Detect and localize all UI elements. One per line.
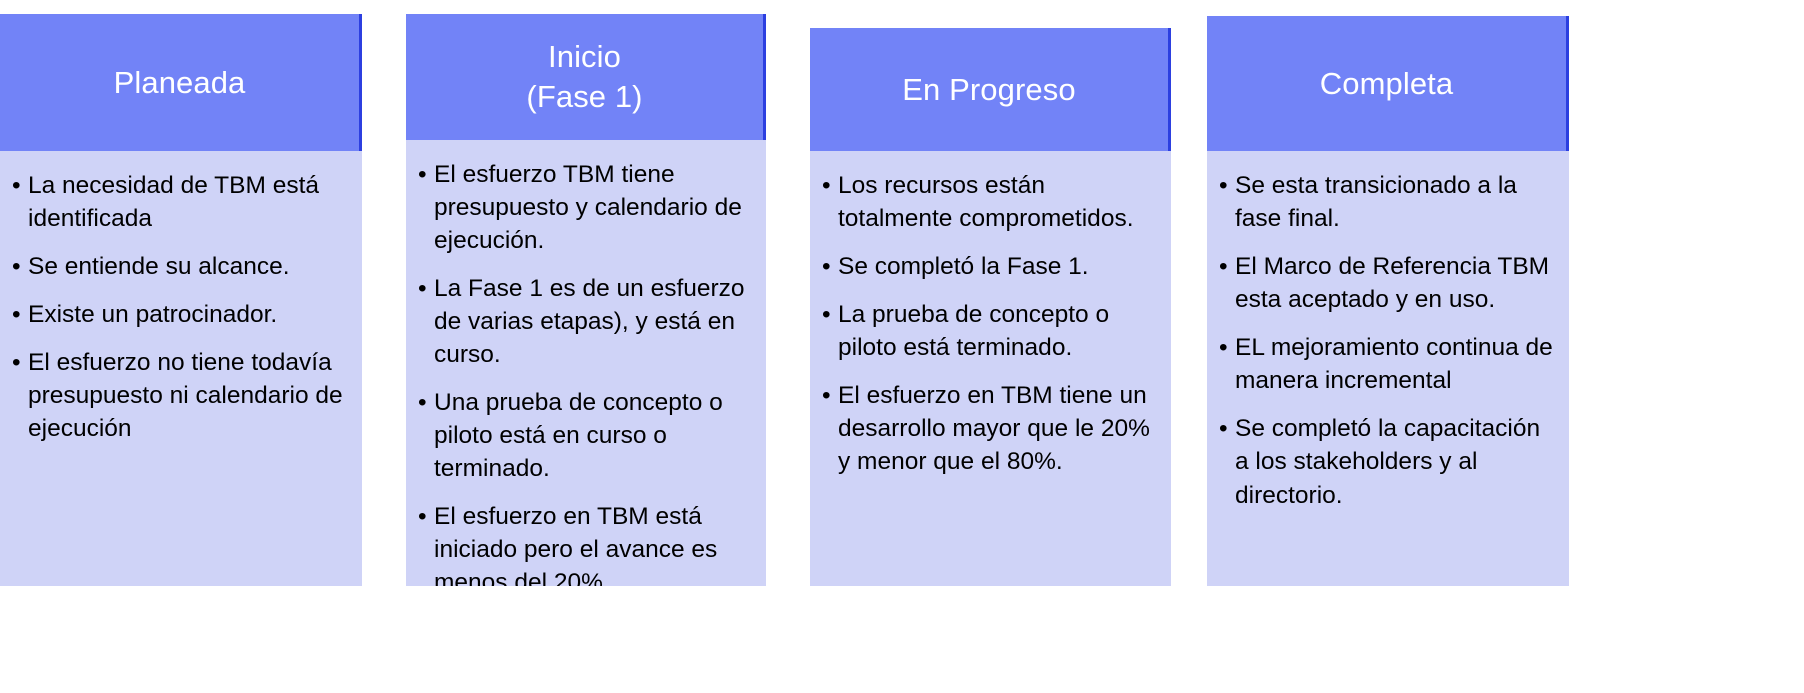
list-item-text: Se entiende su alcance. (28, 250, 346, 283)
bullet-dot-icon: • (822, 169, 838, 202)
list-item: • Existe un patrocinador. (12, 298, 346, 331)
list-item: • La Fase 1 es de un esfuerzo de varias … (418, 272, 750, 371)
bullet-list: • El esfuerzo TBM tiene presupuesto y ca… (418, 158, 750, 586)
bullet-dot-icon: • (12, 250, 28, 283)
list-item: • El esfuerzo en TBM tiene un desarrollo… (822, 379, 1155, 478)
bullet-list: • Los recursos están totalmente comprome… (822, 169, 1155, 479)
stage-header-inicio: Inicio (Fase 1) (406, 14, 766, 140)
list-item: • La necesidad de TBM está identificada (12, 169, 346, 235)
stage-body-planeada: • La necesidad de TBM está identificada … (0, 151, 362, 586)
list-item-text: La necesidad de TBM está identificada (28, 169, 346, 235)
list-item-text: La prueba de concepto o piloto está term… (838, 298, 1155, 364)
bullet-dot-icon: • (1219, 331, 1235, 364)
stage-title-line: Completa (1320, 64, 1453, 104)
list-item: • El esfuerzo no tiene todavía presupues… (12, 346, 346, 445)
stage-body-completa: • Se esta transicionado a la fase final.… (1207, 151, 1569, 586)
stage-column-planeada: Planeada • La necesidad de TBM está iden… (0, 14, 362, 586)
stage-body-inicio: • El esfuerzo TBM tiene presupuesto y ca… (406, 140, 766, 586)
stage-column-completa: Completa • Se esta transicionado a la fa… (1207, 16, 1569, 586)
list-item: • El Marco de Referencia TBM esta acepta… (1219, 250, 1553, 316)
stage-title-line: Planeada (114, 63, 246, 103)
list-item: • El esfuerzo en TBM está iniciado pero … (418, 500, 750, 586)
stage-title-line: Inicio (548, 37, 621, 77)
bullet-dot-icon: • (418, 158, 434, 191)
maturity-stages-diagram: Planeada • La necesidad de TBM está iden… (0, 0, 1804, 693)
stage-column-en-progreso: En Progreso • Los recursos están totalme… (810, 28, 1171, 586)
stage-subtitle-line: (Fase 1) (526, 77, 642, 117)
list-item-text: La Fase 1 es de un esfuerzo de varias et… (434, 272, 750, 371)
list-item: • Se completó la capacitación a los stak… (1219, 412, 1553, 511)
bullet-list: • La necesidad de TBM está identificada … (12, 169, 346, 445)
list-item: • La prueba de concepto o piloto está te… (822, 298, 1155, 364)
stage-title-line: En Progreso (902, 70, 1075, 110)
stage-header-planeada: Planeada (0, 14, 362, 151)
bullet-dot-icon: • (1219, 412, 1235, 445)
list-item-text: EL mejoramiento continua de manera incre… (1235, 331, 1553, 397)
list-item: • Se completó la Fase 1. (822, 250, 1155, 283)
list-item-text: Se esta transicionado a la fase final. (1235, 169, 1553, 235)
bullet-dot-icon: • (822, 379, 838, 412)
bullet-dot-icon: • (1219, 250, 1235, 283)
list-item-text: El esfuerzo en TBM está iniciado pero el… (434, 500, 750, 586)
list-item-text: Se completó la capacitación a los stakeh… (1235, 412, 1553, 511)
list-item: • Los recursos están totalmente comprome… (822, 169, 1155, 235)
list-item-text: El esfuerzo TBM tiene presupuesto y cale… (434, 158, 750, 257)
bullet-dot-icon: • (418, 500, 434, 533)
list-item: • Se esta transicionado a la fase final. (1219, 169, 1553, 235)
bullet-dot-icon: • (822, 250, 838, 283)
list-item: • EL mejoramiento continua de manera inc… (1219, 331, 1553, 397)
stage-header-completa: Completa (1207, 16, 1569, 151)
list-item-text: Se completó la Fase 1. (838, 250, 1155, 283)
bullet-dot-icon: • (1219, 169, 1235, 202)
bullet-dot-icon: • (418, 272, 434, 305)
list-item: • Se entiende su alcance. (12, 250, 346, 283)
stage-body-en-progreso: • Los recursos están totalmente comprome… (810, 151, 1171, 586)
list-item-text: Existe un patrocinador. (28, 298, 346, 331)
list-item: • Una prueba de concepto o piloto está e… (418, 386, 750, 485)
list-item-text: El esfuerzo en TBM tiene un desarrollo m… (838, 379, 1155, 478)
bullet-list: • Se esta transicionado a la fase final.… (1219, 169, 1553, 512)
list-item-text: Los recursos están totalmente comprometi… (838, 169, 1155, 235)
bullet-dot-icon: • (418, 386, 434, 419)
bullet-dot-icon: • (12, 169, 28, 202)
bullet-dot-icon: • (12, 298, 28, 331)
list-item: • El esfuerzo TBM tiene presupuesto y ca… (418, 158, 750, 257)
stage-column-inicio: Inicio (Fase 1) • El esfuerzo TBM tiene … (406, 14, 766, 586)
list-item-text: El esfuerzo no tiene todavía presupuesto… (28, 346, 346, 445)
stage-header-en-progreso: En Progreso (810, 28, 1171, 151)
bullet-dot-icon: • (822, 298, 838, 331)
list-item-text: Una prueba de concepto o piloto está en … (434, 386, 750, 485)
list-item-text: El Marco de Referencia TBM esta aceptado… (1235, 250, 1553, 316)
bullet-dot-icon: • (12, 346, 28, 379)
